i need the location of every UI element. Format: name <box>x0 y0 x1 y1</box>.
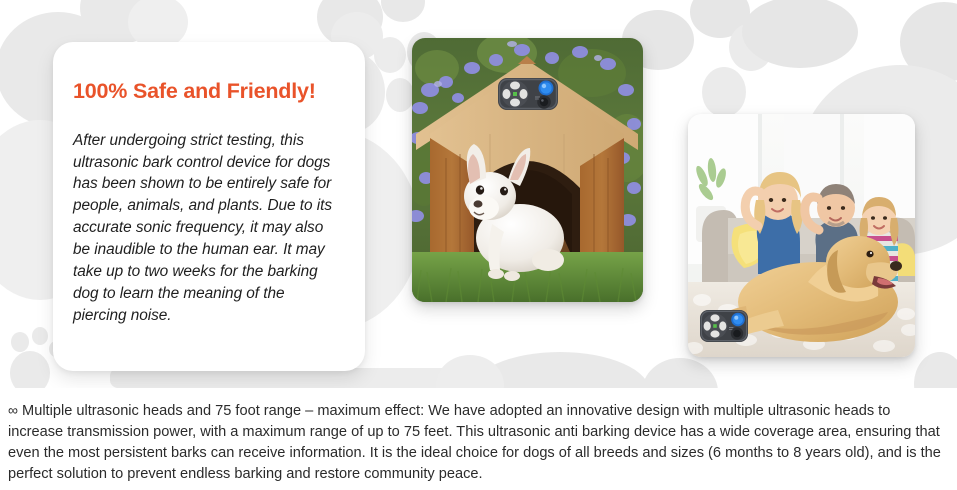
family-living-room-photo[interactable] <box>688 114 915 357</box>
doghouse-photo[interactable] <box>412 38 643 302</box>
doghouse-illustration <box>412 38 643 302</box>
card-body-text: After undergoing strict testing, this ul… <box>73 130 335 327</box>
family-illustration <box>688 114 915 357</box>
product-description-section: ∞ Multiple ultrasonic heads and 75 foot … <box>0 388 957 490</box>
description-text: Multiple ultrasonic heads and 75 foot ra… <box>8 403 941 482</box>
hero-section: 100% Safe and Friendly! After undergoing… <box>0 0 957 388</box>
safe-and-friendly-card: 100% Safe and Friendly! After undergoing… <box>53 42 365 371</box>
device-on-rug <box>700 310 748 342</box>
card-title: 100% Safe and Friendly! <box>73 80 335 104</box>
product-feature-banner: 100% Safe and Friendly! After undergoing… <box>0 0 957 490</box>
device-on-doghouse <box>498 78 558 110</box>
description-paragraph: ∞ Multiple ultrasonic heads and 75 foot … <box>8 400 945 486</box>
infinity-icon: ∞ <box>8 402 18 418</box>
